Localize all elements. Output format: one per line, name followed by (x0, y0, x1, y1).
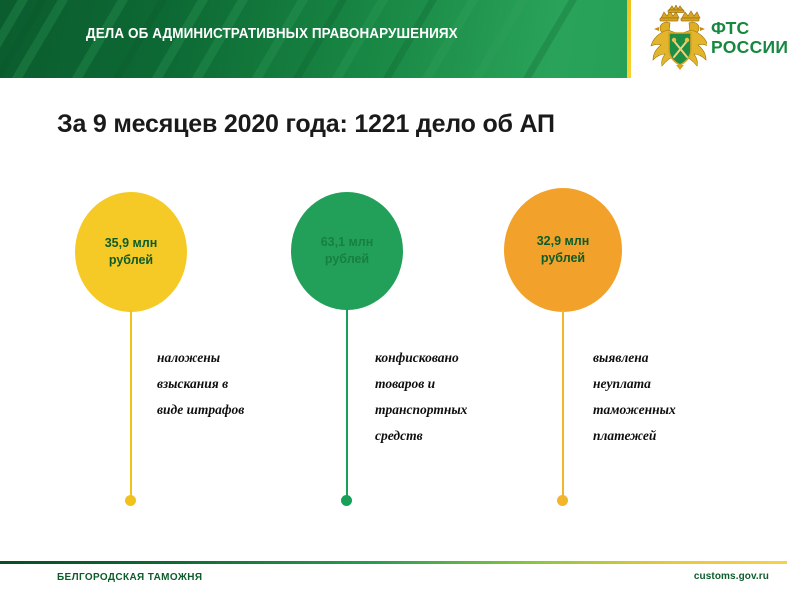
caption-line: конфисковано (375, 345, 467, 371)
caption-line: таможенных (593, 397, 676, 423)
connector-line (346, 308, 348, 502)
value-line-1: 63,1 млн (321, 234, 374, 251)
fts-logo-text: ФТС РОССИИ (711, 19, 787, 57)
footer-website[interactable]: customs.gov.ru (694, 571, 769, 582)
coat-of-arms-icon (645, 5, 707, 73)
caption-line: товаров и (375, 371, 467, 397)
header-accent-stripe (627, 0, 631, 78)
fts-logo-line1: ФТС (711, 19, 787, 38)
caption-line: взыскания в (157, 371, 244, 397)
value-line-2: рублей (541, 250, 585, 267)
caption-text: наложены взыскания в виде штрафов (157, 345, 244, 423)
caption-line: неуплата (593, 371, 676, 397)
connector-dot (557, 495, 568, 506)
caption-line: транспортных (375, 397, 467, 423)
page-title: За 9 месяцев 2020 года: 1221 дело об АП (57, 110, 555, 139)
connector-line (562, 310, 564, 502)
caption-text: выявлена неуплата таможенных платежей (593, 345, 676, 449)
connector-dot (125, 495, 136, 506)
caption-line: средств (375, 423, 467, 449)
connector-line (130, 310, 132, 502)
value-line-2: рублей (325, 251, 369, 268)
footer-divider (0, 561, 787, 564)
connector-dot (341, 495, 352, 506)
value-bubble: 63,1 млн рублей (291, 192, 403, 310)
value-bubble: 35,9 млн рублей (75, 192, 187, 312)
fts-logo: ФТС РОССИИ (645, 5, 785, 75)
value-line-2: рублей (109, 252, 153, 269)
slide-header: ДЕЛА ОБ АДМИНИСТРАТИВНЫХ ПРАВОНАРУШЕНИЯХ (0, 0, 787, 78)
caption-line: виде штрафов (157, 397, 244, 423)
caption-line: выявлена (593, 345, 676, 371)
value-bubble: 32,9 млн рублей (504, 188, 622, 312)
footer-organization: БЕЛГОРОДСКАЯ ТАМОЖНЯ (57, 571, 202, 583)
value-line-1: 32,9 млн (537, 233, 590, 250)
fts-logo-line2: РОССИИ (711, 38, 787, 57)
caption-line: платежей (593, 423, 676, 449)
header-title: ДЕЛА ОБ АДМИНИСТРАТИВНЫХ ПРАВОНАРУШЕНИЯХ (86, 26, 458, 42)
caption-line: наложены (157, 345, 244, 371)
value-line-1: 35,9 млн (105, 235, 158, 252)
header-green-band: ДЕЛА ОБ АДМИНИСТРАТИВНЫХ ПРАВОНАРУШЕНИЯХ (0, 0, 627, 78)
caption-text: конфисковано товаров и транспортных сред… (375, 345, 467, 449)
